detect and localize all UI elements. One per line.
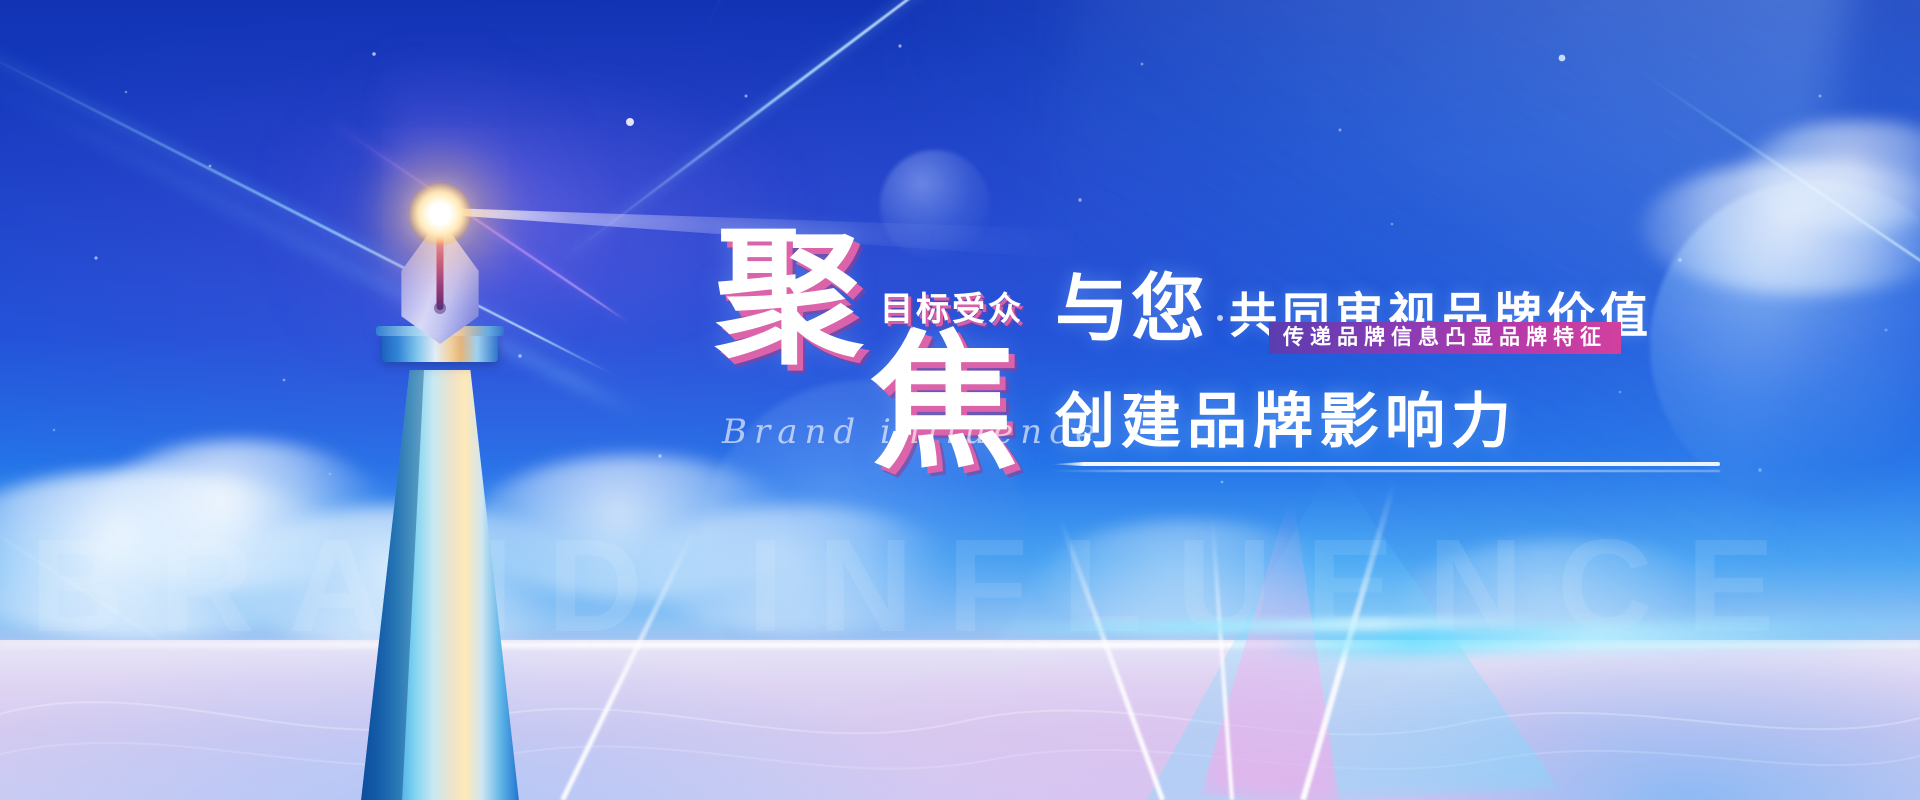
right-copy-column: 与您 共同审视品牌价值 传递品牌信息凸显品牌特征 创建品牌影响力 [1055, 258, 1653, 452]
sub-bar-badge: 传递品牌信息凸显品牌特征 [1269, 322, 1621, 354]
script-subtitle: Brand influence [722, 412, 1102, 452]
headline-char-ju: 聚 [715, 225, 863, 373]
headline-divider [1050, 462, 1720, 466]
headline-line-2: 创建品牌影响力 [1055, 392, 1653, 452]
headline-copy-block: 聚 焦 目标受众 Brand influence 与您 共同审视品牌价值 传递品… [0, 0, 1920, 800]
headline-lead: 与您 [1055, 272, 1207, 346]
brand-influence-banner: BRAND INFLUENCE 聚 焦 目标受众 Brand i [0, 0, 1920, 800]
headline-divider-secondary [1050, 470, 1720, 472]
headline-char-jiao: 焦 [870, 330, 1018, 478]
audience-tag: 目标受众 [880, 282, 1024, 330]
